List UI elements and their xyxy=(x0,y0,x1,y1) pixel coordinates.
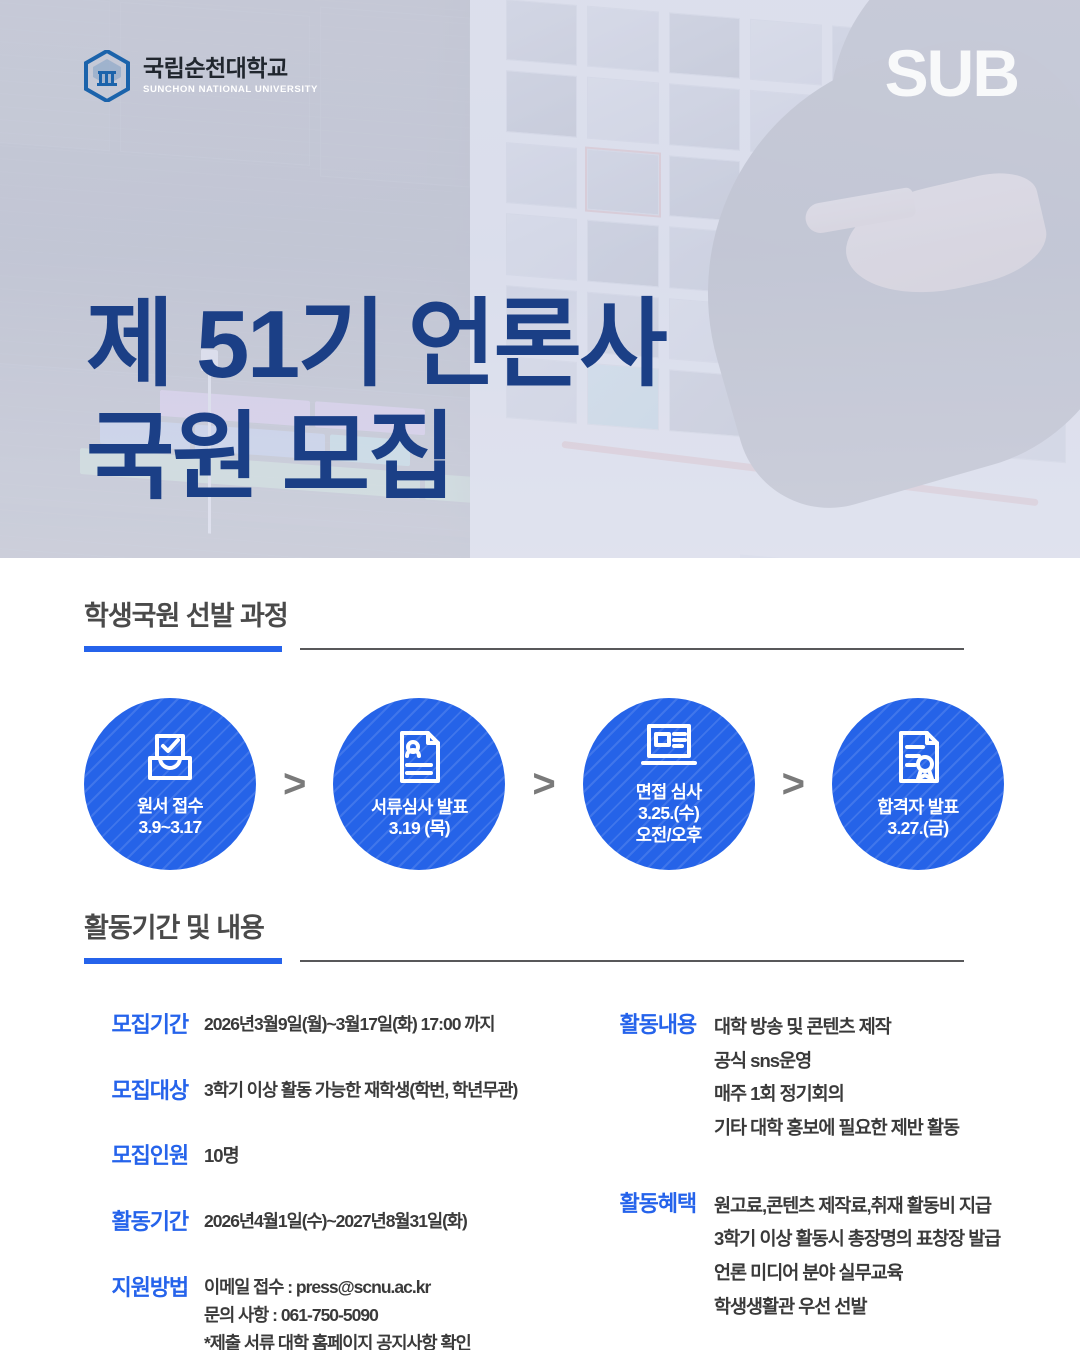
info-row-label: 활동혜택 xyxy=(584,1189,696,1324)
step-label: 서류심사 발표 3.19 (목) xyxy=(371,797,468,840)
info-row-value: 10명 xyxy=(204,1141,239,1171)
logo-korean-name: 국립순천대학교 xyxy=(143,57,318,80)
info-row-label: 활동기간 xyxy=(84,1207,188,1237)
hero-banner: 국립순천대학교 SUNCHON NATIONAL UNIVERSITY SUB … xyxy=(0,0,1080,558)
info-heading: 활동기간 및 내용 xyxy=(84,906,996,945)
resume-document-icon xyxy=(394,729,444,790)
process-steps: 원서 접수 3.9~3.17 > 서류심사 발표 3.19 (목) > xyxy=(84,698,1004,870)
info-row: 모집대상 3학기 이상 활동 가능한 재학생(학번, 학년무관) xyxy=(84,1076,584,1106)
info-row: 모집기간 2026년3월9일(월)~3월17일(화) 17:00 까지 xyxy=(84,1010,584,1040)
info-row: 지원방법 이메일 접수 : press@scnu.ac.kr 문의 사항 : 0… xyxy=(84,1273,584,1350)
heading-rule xyxy=(84,646,964,652)
info-row: 활동기간 2026년4월1일(수)~2027년8월31일(화) xyxy=(84,1207,584,1237)
chevron-right-icon: > xyxy=(532,764,555,804)
info-row-label: 활동내용 xyxy=(584,1010,696,1145)
info-section: 활동기간 및 내용 모집기간 2026년3월9일(월)~3월17일(화) 17:… xyxy=(0,906,1080,1350)
info-row: 모집인원 10명 xyxy=(84,1141,584,1171)
rule-accent xyxy=(84,958,282,964)
process-step: 합격자 발표 3.27.(금) xyxy=(832,698,1004,870)
sub-brand-mark: SUB xyxy=(885,40,1018,106)
step-label: 원서 접수 3.9~3.17 xyxy=(137,796,203,839)
logo-english-name: SUNCHON NATIONAL UNIVERSITY xyxy=(143,85,318,95)
info-row-value: 2026년3월9일(월)~3월17일(화) 17:00 까지 xyxy=(204,1010,495,1040)
info-row-value: 2026년4월1일(수)~2027년8월31일(화) xyxy=(204,1207,467,1237)
info-row-value: 이메일 접수 : press@scnu.ac.kr 문의 사항 : 061-75… xyxy=(204,1273,471,1350)
step-label: 면접 심사 3.25.(수) 오전/오후 xyxy=(636,782,702,846)
info-row-label: 모집대상 xyxy=(84,1076,188,1106)
award-certificate-icon xyxy=(893,729,943,790)
hexagon-university-emblem-icon xyxy=(84,50,130,102)
chevron-right-icon: > xyxy=(782,764,805,804)
process-step: 원서 접수 3.9~3.17 xyxy=(84,698,256,870)
step-label: 합격자 발표 3.27.(금) xyxy=(877,797,958,840)
info-row-value: 원고료,콘텐츠 제작료,취재 활동비 지급 3학기 이상 활동시 총장명의 표창… xyxy=(714,1189,1000,1324)
recruitment-poster: 국립순천대학교 SUNCHON NATIONAL UNIVERSITY SUB … xyxy=(0,0,1080,1350)
info-row-value: 3학기 이상 활동 가능한 재학생(학번, 학년무관) xyxy=(204,1076,517,1106)
chevron-right-icon: > xyxy=(283,764,306,804)
process-step: 서류심사 발표 3.19 (목) xyxy=(333,698,505,870)
rule-line xyxy=(300,960,964,962)
inbox-check-icon xyxy=(142,730,198,789)
info-row-label: 모집인원 xyxy=(84,1141,188,1171)
info-section-header: 활동기간 및 내용 xyxy=(84,906,996,964)
rule-line xyxy=(300,648,964,650)
rule-accent xyxy=(84,646,282,652)
process-heading: 학생국원 선발 과정 xyxy=(84,594,996,633)
process-step: 면접 심사 3.25.(수) 오전/오후 xyxy=(583,698,755,870)
info-column-left: 모집기간 2026년3월9일(월)~3월17일(화) 17:00 까지 모집대상… xyxy=(84,1010,584,1350)
info-row-label: 모집기간 xyxy=(84,1010,188,1040)
info-row: 활동혜택 원고료,콘텐츠 제작료,취재 활동비 지급 3학기 이상 활동시 총장… xyxy=(584,1189,1024,1324)
process-section-header: 학생국원 선발 과정 xyxy=(84,594,996,652)
info-column-right: 활동내용 대학 방송 및 콘텐츠 제작 공식 sns운영 매주 1회 정기회의 … xyxy=(584,1010,1024,1350)
info-row: 활동내용 대학 방송 및 콘텐츠 제작 공식 sns운영 매주 1회 정기회의 … xyxy=(584,1010,1024,1145)
heading-rule xyxy=(84,958,964,964)
university-logo: 국립순천대학교 SUNCHON NATIONAL UNIVERSITY xyxy=(84,50,318,102)
process-section: 학생국원 선발 과정 원서 접수 3.9~3.17 > xyxy=(0,594,1080,870)
laptop-interview-icon xyxy=(640,722,698,775)
page-title: 제 51기 언론사 국원 모집 xyxy=(86,288,665,515)
info-row-value: 대학 방송 및 콘텐츠 제작 공식 sns운영 매주 1회 정기회의 기타 대학… xyxy=(714,1010,959,1145)
info-details: 모집기간 2026년3월9일(월)~3월17일(화) 17:00 까지 모집대상… xyxy=(84,1010,1024,1350)
info-row-label: 지원방법 xyxy=(84,1273,188,1350)
